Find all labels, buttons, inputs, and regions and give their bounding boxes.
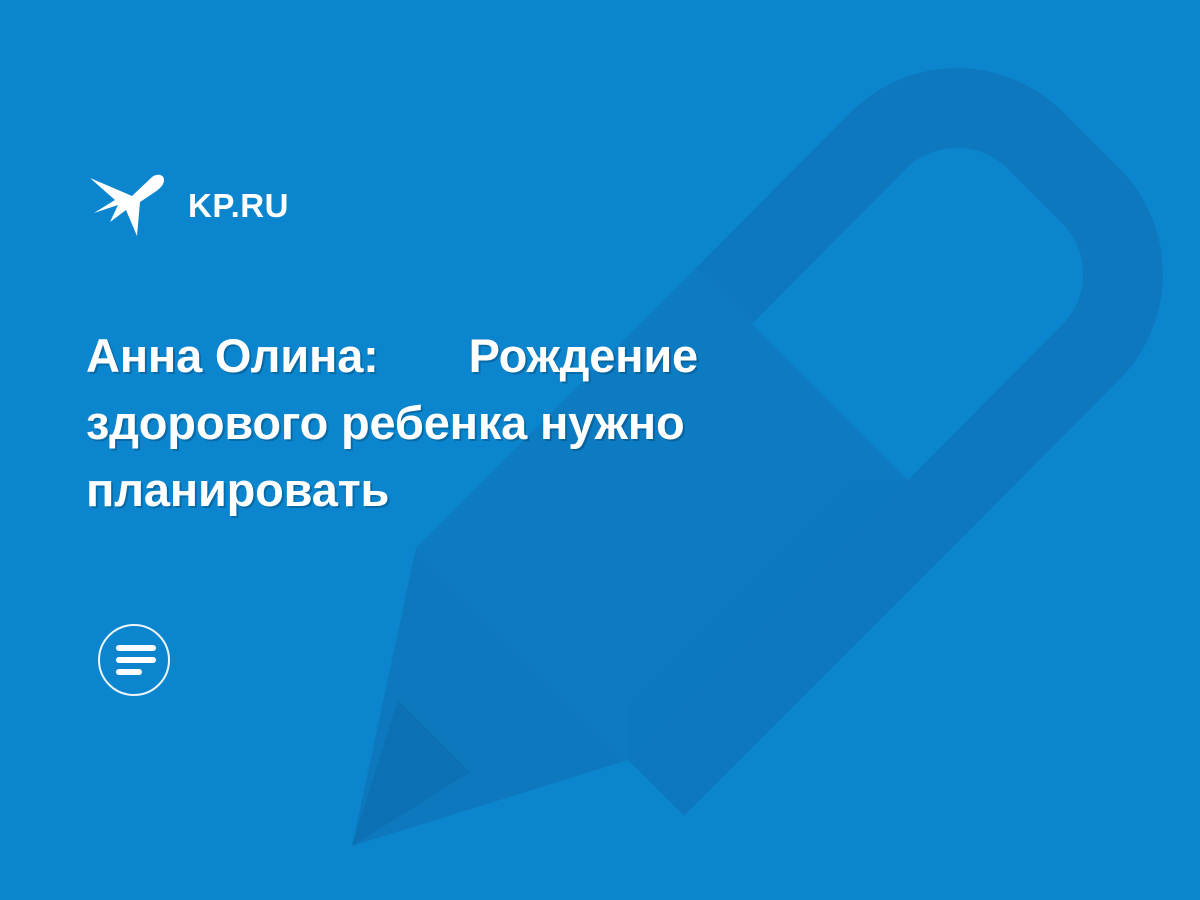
menu-bar-3 [116,669,142,675]
brand-name-label: KP.RU [188,189,289,222]
hamburger-menu-button[interactable] [98,624,170,696]
article-share-card: KP.RU Анна Олина: Рождение здорового реб… [0,0,1200,900]
menu-bar-2 [116,657,156,663]
menu-bar-1 [116,645,156,651]
swallow-bird-icon [88,172,166,238]
brand-logo-lockup[interactable]: KP.RU [88,172,289,238]
page-title: Анна Олина: Рождение здорового ребенка н… [86,322,906,523]
